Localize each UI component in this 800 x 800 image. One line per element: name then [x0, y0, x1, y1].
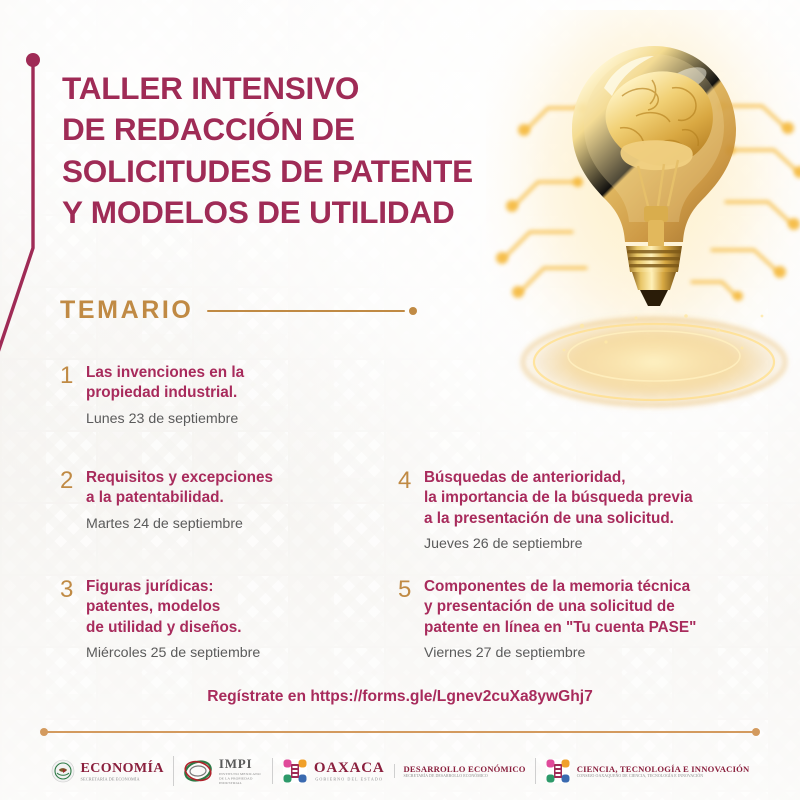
logo-subtitle: CONSEJO OAXAQUEÑO DE CIENCIA, TECNOLOGÍA… [577, 774, 750, 778]
footer-logos: ECONOMÍA SECRETARÍA DE ECONOMÍA IMPI INS… [0, 748, 800, 794]
agenda-item-number: 4 [398, 468, 424, 553]
impi-emblem-icon [183, 759, 213, 783]
agenda-item-date: Martes 24 de septiembre [86, 516, 273, 533]
rule-end-dot [409, 307, 417, 315]
agenda-item-body: Las invenciones en la propiedad industri… [86, 363, 244, 428]
agenda-item-5: 5 Componentes de la memoria técnica y pr… [398, 577, 696, 662]
agenda-item-number: 5 [398, 577, 424, 662]
agenda-item-date: Viernes 27 de septiembre [424, 645, 696, 662]
title-line-3: SOLICITUDES DE PATENTE [62, 151, 532, 192]
lightbulb-brain-artwork [486, 10, 800, 440]
logo-subtitle: GOBIERNO DEL ESTADO [314, 777, 385, 782]
logo-economia: ECONOMÍA SECRETARÍA DE ECONOMÍA [42, 759, 173, 783]
agenda-item-3: 3 Figuras jurídicas: patentes, modelos d… [60, 577, 260, 662]
title-line: Componentes de la memoria técnica [424, 577, 696, 597]
logo-ciencia-tecnologia: CIENCIA, TECNOLOGÍA E INNOVACIÓN CONSEJO… [535, 758, 759, 784]
title-line-2: DE REDACCIÓN DE [62, 109, 532, 150]
agenda-item-4: 4 Búsquedas de anterioridad, la importan… [398, 468, 693, 553]
title-line: a la patentabilidad. [86, 488, 273, 508]
logo-name: OAXACA [314, 760, 385, 777]
logo-subtitle: INSTITUTO MEXICANO DE LA PROPIEDAD INDUS… [219, 772, 263, 786]
logo-subtitle: SECRETARÍA DE DESARROLLO ECONÓMICO [404, 774, 526, 778]
logo-desarrollo-economico: DESARROLLO ECONÓMICO SECRETARÍA DE DESAR… [394, 764, 535, 778]
agenda-item-date: Miércoles 25 de septiembre [86, 645, 260, 662]
agenda-item-body: Componentes de la memoria técnica y pres… [424, 577, 696, 662]
page-title: TALLER INTENSIVO DE REDACCIÓN DE SOLICIT… [62, 68, 532, 233]
agenda-item-number: 3 [60, 577, 86, 662]
title-line: patente en línea en "Tu cuenta PASE" [424, 618, 696, 638]
agenda-item-title: Componentes de la memoria técnica y pres… [424, 577, 696, 638]
agenda-item-body: Figuras jurídicas: patentes, modelos de … [86, 577, 260, 662]
logo-oaxaca: OAXACA GOBIERNO DEL ESTADO [272, 758, 394, 784]
logo-impi: IMPI INSTITUTO MEXICANO DE LA PROPIEDAD … [173, 756, 272, 787]
agenda-heading-rule [207, 305, 417, 317]
title-line: Requisitos y excepciones [86, 468, 273, 488]
registration-link[interactable]: Regístrate en https://forms.gle/Lgnev2cu… [0, 688, 800, 706]
agenda-item-date: Jueves 26 de septiembre [424, 536, 693, 553]
logo-text: ECONOMÍA SECRETARÍA DE ECONOMÍA [81, 761, 164, 782]
title-line-1: TALLER INTENSIVO [62, 68, 532, 109]
agenda-item-title: Requisitos y excepciones a la patentabil… [86, 468, 273, 509]
logo-name: ECONOMÍA [81, 761, 164, 777]
coctei-emblem-icon [545, 758, 571, 784]
agenda-item-body: Búsquedas de anterioridad, la importanci… [424, 468, 693, 553]
logo-text: CIENCIA, TECNOLOGÍA E INNOVACIÓN CONSEJO… [577, 764, 750, 778]
title-line: y presentación de una solicitud de [424, 597, 696, 617]
agenda-item-title: Figuras jurídicas: patentes, modelos de … [86, 577, 260, 638]
divider-dot-right [752, 728, 760, 736]
logo-name: DESARROLLO ECONÓMICO [404, 764, 526, 774]
logo-text: DESARROLLO ECONÓMICO SECRETARÍA DE DESAR… [404, 764, 526, 778]
title-line: Figuras jurídicas: [86, 577, 260, 597]
agenda-item-body: Requisitos y excepciones a la patentabil… [86, 468, 273, 533]
agenda-item-2: 2 Requisitos y excepciones a la patentab… [60, 468, 273, 533]
footer-divider [40, 727, 760, 737]
title-line: de utilidad y diseños. [86, 618, 260, 638]
title-line: Búsquedas de anterioridad, [424, 468, 693, 488]
logo-name: IMPI [219, 756, 263, 772]
agenda-item-1: 1 Las invenciones en la propiedad indust… [60, 363, 244, 428]
logo-text: IMPI INSTITUTO MEXICANO DE LA PROPIEDAD … [219, 756, 263, 787]
rule-bar [207, 310, 405, 312]
poster-canvas: TALLER INTENSIVO DE REDACCIÓN DE SOLICIT… [0, 0, 800, 800]
title-line: propiedad industrial. [86, 383, 244, 403]
title-line-4: Y MODELOS DE UTILIDAD [62, 192, 532, 233]
oaxaca-emblem-icon [282, 758, 308, 784]
title-line: patentes, modelos [86, 597, 260, 617]
logo-name: CIENCIA, TECNOLOGÍA E INNOVACIÓN [577, 764, 750, 774]
title-line: la importancia de la búsqueda previa [424, 488, 693, 508]
divider-bar [45, 731, 755, 733]
logo-text: OAXACA GOBIERNO DEL ESTADO [314, 760, 385, 782]
agenda-item-title: Las invenciones en la propiedad industri… [86, 363, 244, 404]
agenda-heading: TEMARIO [60, 296, 417, 325]
title-line: Las invenciones en la [86, 363, 244, 383]
title-line: a la presentación de una solicitud. [424, 509, 693, 529]
agenda-item-title: Búsquedas de anterioridad, la importanci… [424, 468, 693, 529]
agenda-heading-label: TEMARIO [60, 296, 193, 325]
agenda-item-number: 1 [60, 363, 86, 428]
logo-subtitle: SECRETARÍA DE ECONOMÍA [81, 777, 164, 782]
mexico-coat-of-arms-icon [51, 759, 75, 783]
agenda-item-number: 2 [60, 468, 86, 533]
agenda-item-date: Lunes 23 de septiembre [86, 411, 244, 428]
